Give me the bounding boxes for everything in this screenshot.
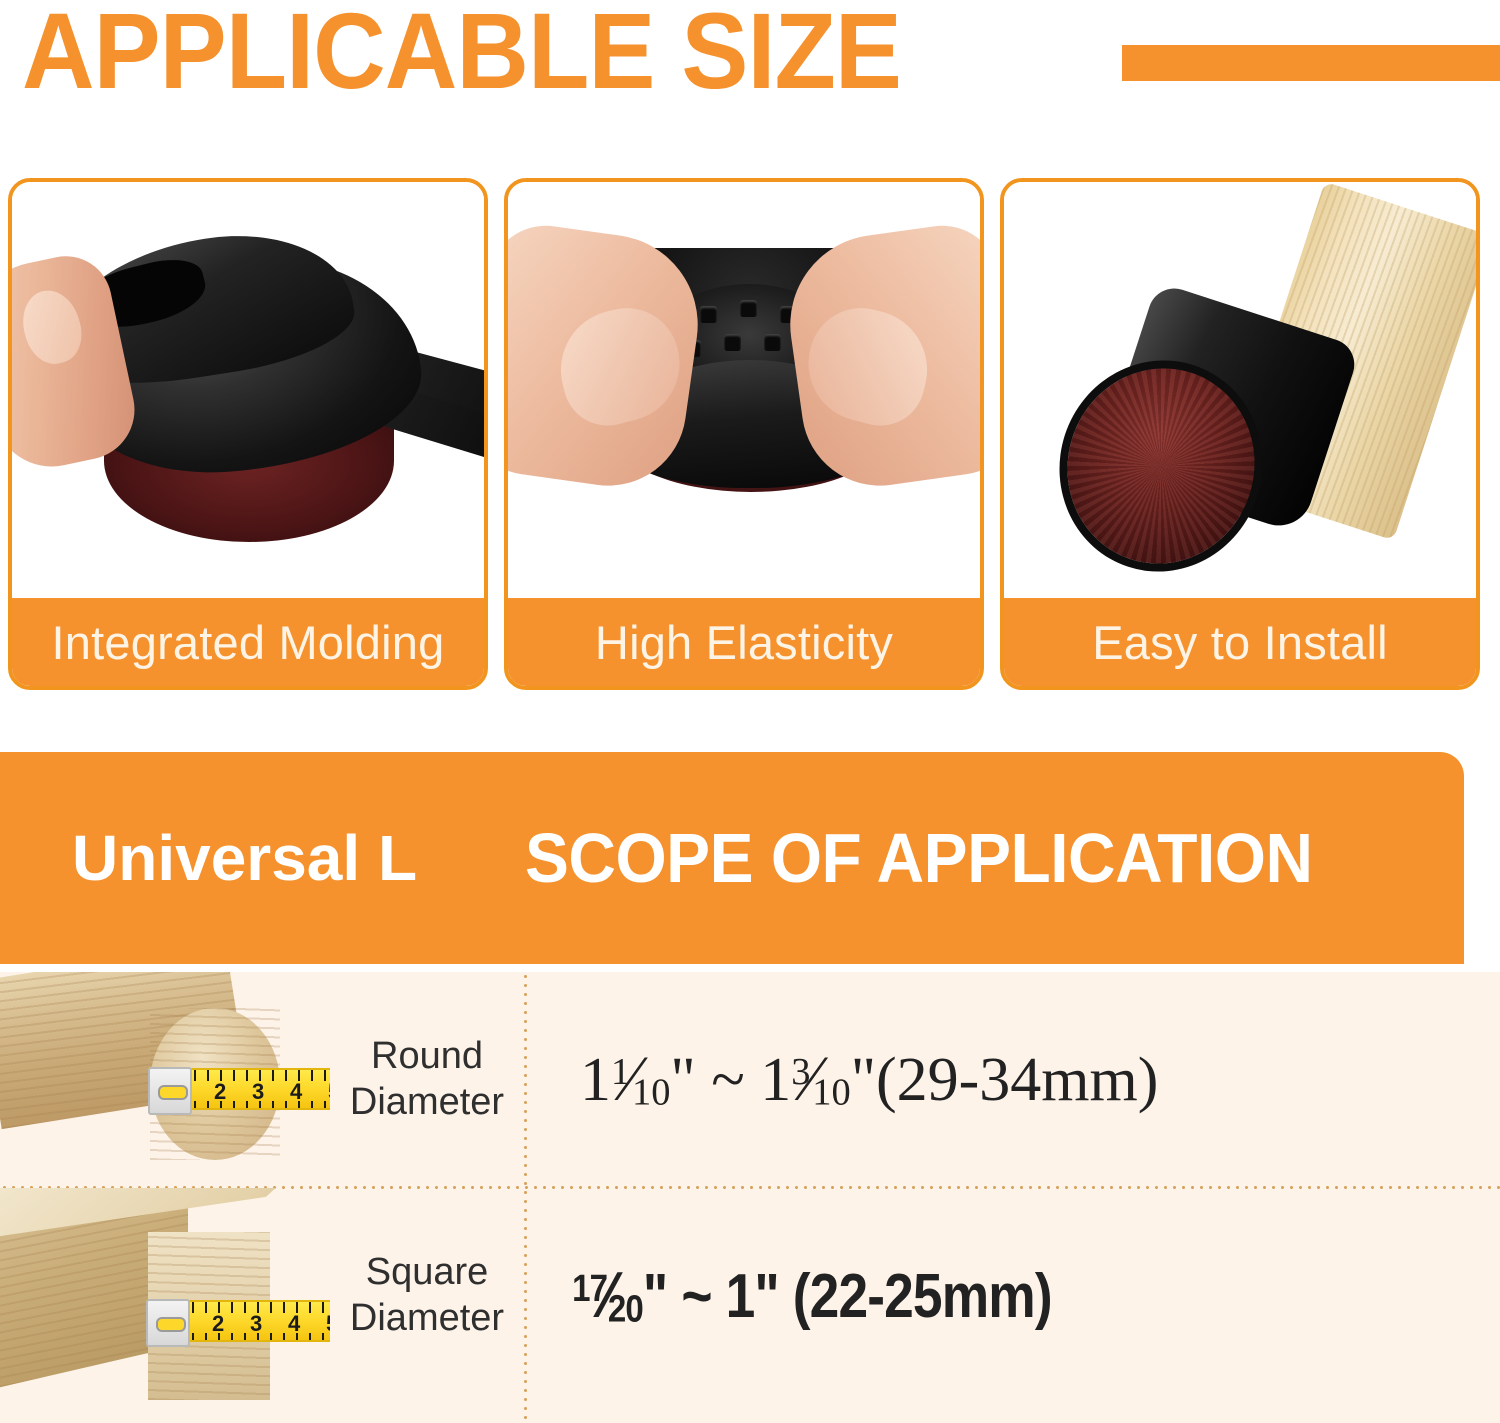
row-label-line-1: Square (330, 1249, 524, 1295)
row-label-line-2: Diameter (330, 1079, 524, 1125)
table-row: 2 3 4 5 Round Diameter 11⁄10" ~ 13⁄10"(2… (0, 972, 1500, 1186)
tape-measure-icon: 2 3 4 5 (146, 1300, 330, 1342)
header: APPLICABLE SIZE (0, 0, 1500, 170)
row-label-square-diameter: Square Diameter (330, 1249, 524, 1342)
max-whole-number: 1 (760, 1046, 791, 1114)
title-underline-bar (1122, 45, 1500, 81)
grip-nub-icon (740, 300, 757, 317)
metric-range: (29-34mm) (876, 1046, 1158, 1114)
feature-photo-integrated-molding (12, 182, 484, 606)
feature-card-high-elasticity: High Elasticity (504, 178, 984, 690)
feature-label-easy-to-install: Easy to Install (1004, 598, 1476, 686)
inch-mark: " (851, 1046, 876, 1114)
max-fraction: 3⁄10 (791, 1042, 850, 1116)
scope-of-application-title: SCOPE OF APPLICATION (525, 818, 1408, 898)
row-label-line-2: Diameter (330, 1295, 524, 1341)
feature-photo-easy-to-install (1004, 182, 1476, 606)
grip-nub-icon (724, 334, 741, 351)
table-row: 2 3 4 5 Square Diameter 17⁄20" ~ 1" (22-… (0, 1188, 1500, 1402)
fraction-denominator: 10 (812, 1072, 850, 1114)
scope-banner: Universal L SCOPE OF APPLICATION (0, 752, 1464, 964)
metric-range: (22-25mm) (793, 1262, 1052, 1331)
tape-number: 2 (212, 1311, 224, 1337)
tape-number: 4 (288, 1311, 300, 1337)
row-value-round-diameter: 11⁄10" ~ 13⁄10"(29-34mm) (524, 1042, 1500, 1116)
fraction-denominator: 10 (632, 1072, 670, 1114)
tape-number: 3 (250, 1311, 262, 1337)
tape-measure-icon: 2 3 4 5 (148, 1068, 330, 1110)
tape-number: 5 (326, 1311, 330, 1337)
tape-number: 3 (252, 1079, 264, 1105)
feature-card-easy-to-install: Easy to Install (1000, 178, 1480, 690)
grip-nub-icon (764, 334, 781, 351)
max-whole-number: 1 (726, 1262, 755, 1331)
feature-card-row: Integrated Molding (0, 178, 1500, 698)
min-whole-number: 1 (580, 1046, 611, 1114)
feature-label-high-elasticity: High Elasticity (508, 598, 980, 686)
feature-photo-high-elasticity (508, 182, 980, 606)
tape-number: 2 (214, 1079, 226, 1105)
universal-size-label: Universal L (0, 821, 525, 895)
page-title: APPLICABLE SIZE (22, 0, 901, 107)
tape-hook-icon (148, 1067, 192, 1115)
feature-label-integrated-molding: Integrated Molding (12, 598, 484, 686)
round-leg-illustration: 2 3 4 5 (0, 972, 330, 1186)
fraction-numerator: 17 (572, 1267, 607, 1310)
applicable-size-infographic: APPLICABLE SIZE Integrated Molding (0, 0, 1500, 1423)
row-value-square-diameter: 17⁄20" ~ 1" (22-25mm) (524, 1258, 1363, 1332)
inch-mark: " (670, 1046, 695, 1114)
range-tilde: ~ (711, 1046, 745, 1114)
inch-mark: " (643, 1262, 667, 1331)
min-fraction: 1⁄10 (611, 1042, 670, 1116)
range-tilde: ~ (681, 1262, 711, 1331)
square-leg-illustration: 2 3 4 5 (0, 1188, 330, 1402)
row-label-round-diameter: Round Diameter (330, 1033, 524, 1126)
feature-card-integrated-molding: Integrated Molding (8, 178, 488, 690)
tape-number: 5 (328, 1079, 330, 1105)
row-label-line-1: Round (330, 1033, 524, 1079)
min-fraction: 17⁄20 (572, 1258, 643, 1332)
tape-number: 4 (290, 1079, 302, 1105)
specification-table: 2 3 4 5 Round Diameter 11⁄10" ~ 13⁄10"(2… (0, 972, 1500, 1423)
tape-hook-icon (146, 1299, 190, 1347)
fraction-denominator: 20 (608, 1288, 643, 1331)
grip-nub-icon (700, 306, 717, 323)
inch-mark: " (754, 1262, 778, 1331)
